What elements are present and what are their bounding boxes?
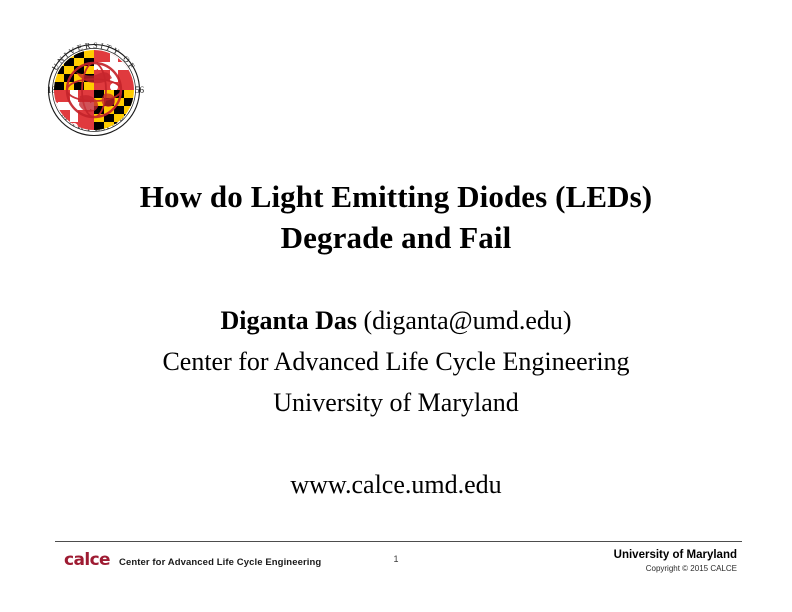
footer-attribution: University of Maryland Copyright © 2015 … <box>614 548 737 574</box>
presenter-line: Diganta Das (diganta@umd.edu) <box>46 300 746 341</box>
calce-logo: calce <box>64 552 110 569</box>
calce-tagline: Center for Advanced Life Cycle Engineeri… <box>119 557 321 569</box>
slide-subtitle: Diganta Das (diganta@umd.edu) Center for… <box>46 300 746 505</box>
presenter-email: (diganta@umd.edu) <box>363 306 571 335</box>
university-of-maryland-seal-icon: UNIVERSITY OF MARYLAND 18 56 <box>36 32 152 148</box>
footer-divider <box>55 541 742 542</box>
slide-title: How do Light Emitting Diodes (LEDs) Degr… <box>46 176 746 258</box>
page-number: 1 <box>376 553 416 565</box>
slide-canvas: UNIVERSITY OF MARYLAND 18 56 <box>0 0 792 612</box>
website-line: www.calce.umd.edu <box>46 464 746 505</box>
copyright-notice: Copyright © 2015 CALCE <box>614 563 737 574</box>
svg-text:56: 56 <box>135 85 145 95</box>
affiliation-line-1: Center for Advanced Life Cycle Engineeri… <box>46 341 746 382</box>
organization-name: University of Maryland <box>614 548 737 562</box>
presenter-name: Diganta Das <box>220 306 357 335</box>
footer-branding: calce Center for Advanced Life Cycle Eng… <box>64 552 321 569</box>
affiliation-line-2: University of Maryland <box>46 382 746 423</box>
title-line-2: Degrade and Fail <box>46 217 746 258</box>
title-line-1: How do Light Emitting Diodes (LEDs) <box>46 176 746 217</box>
subtitle-spacer <box>46 423 746 464</box>
